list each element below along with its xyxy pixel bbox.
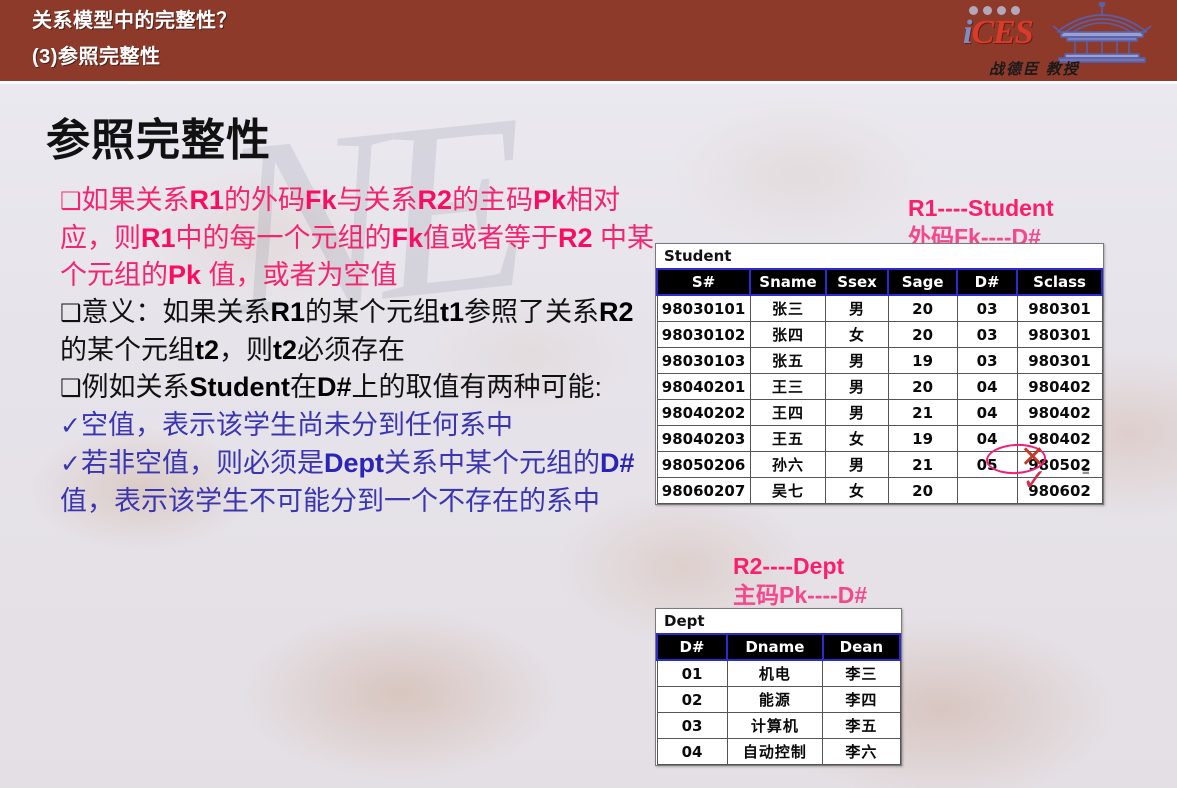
student-header-row: S# Sname Ssex Sage D# Sclass — [657, 269, 1102, 295]
table-row: 01 机电 李三 — [657, 660, 900, 687]
bullet-list: ❑如果关系R1的外码Fk与关系R2的主码Pk相对应，则R1中的每一个元组的Fk值… — [60, 182, 660, 520]
cell-sname: 王四 — [750, 400, 826, 426]
cell-dean: 李三 — [823, 660, 900, 687]
cell-ssex: 女 — [826, 322, 888, 348]
dept-label-line1: R2----Dept — [733, 552, 867, 581]
cell-sclass: 980402 — [1017, 426, 1102, 452]
col-header-d-number: D# — [957, 269, 1017, 295]
cell-sclass: 980301 — [1017, 322, 1102, 348]
table-row: 98030101 张三 男 20 03 980301 — [657, 295, 1102, 322]
cell-sname: 吴七 — [750, 478, 826, 504]
cell-s-number: 98060207 — [657, 478, 750, 504]
student-table: Student S# Sname Ssex Sage D# Sclass 980… — [655, 243, 1104, 505]
table-row: 98060207 吴七 女 20 980602 — [657, 478, 1102, 504]
page-subtitle: (3)参照完整性 — [32, 40, 160, 69]
cell-sclass: 980502 — [1017, 452, 1102, 478]
bullet-text-5: 若非空值，则必须是Dept关系中某个元组的D#值，表示该学生不可能分到一个不存在… — [60, 448, 634, 516]
cell-sname: 孙六 — [750, 452, 826, 478]
check-bullet-icon: ✓ — [60, 450, 81, 478]
cell-dname: 能源 — [727, 687, 823, 713]
bullet-text-1: 如果关系R1的外码Fk与关系R2的主码Pk相对应，则R1中的每一个元组的Fk值或… — [60, 185, 654, 290]
bullet-text-4: 空值，表示该学生尚未分到任何系中 — [81, 410, 513, 440]
cell-dean: 李五 — [823, 713, 900, 739]
table-row: 03 计算机 李五 — [657, 713, 900, 739]
square-bullet-icon: ❑ — [60, 375, 82, 402]
cell-sclass: 980402 — [1017, 400, 1102, 426]
cell-d-number: 04 — [657, 739, 727, 765]
dept-table-caption: Dept — [656, 609, 901, 633]
table-row: 04 自动控制 李六 — [657, 739, 900, 765]
ices-logo: iCES — [959, 0, 1169, 84]
cell-s-number: 98030103 — [657, 348, 750, 374]
bullet-text-3: 例如关系Student在D#上的取值有两种可能: — [82, 372, 603, 402]
cell-s-number: 98050206 — [657, 452, 750, 478]
cell-sname: 张四 — [750, 322, 826, 348]
cell-sclass: 980301 — [1017, 295, 1102, 322]
cell-dname: 自动控制 — [727, 739, 823, 765]
cell-sname: 张五 — [750, 348, 826, 374]
logo-wordmark: iCES — [963, 14, 1033, 52]
cell-sname: 王三 — [750, 374, 826, 400]
cell-d-number: 01 — [657, 660, 727, 687]
cell-s-number: 98040202 — [657, 400, 750, 426]
col-header-sage: Sage — [888, 269, 957, 295]
cell-sname: 王五 — [750, 426, 826, 452]
cell-sage: 21 — [888, 400, 957, 426]
table-row: 98040203 王五 女 19 04 980402 — [657, 426, 1102, 452]
cell-ssex: 男 — [826, 400, 888, 426]
table-row: 02 能源 李四 — [657, 687, 900, 713]
cell-ssex: 男 — [826, 348, 888, 374]
table-row: 98030103 张五 男 19 03 980301 — [657, 348, 1102, 374]
cell-sage: 21 — [888, 452, 957, 478]
cell-sclass: 980602 — [1017, 478, 1102, 504]
col-header-ssex: Ssex — [826, 269, 888, 295]
cell-d-number: 03 — [957, 348, 1017, 374]
bullet-item-3: ❑例如关系Student在D#上的取值有两种可能: — [60, 369, 660, 407]
cell-s-number: 98040203 — [657, 426, 750, 452]
cell-ssex: 女 — [826, 426, 888, 452]
bullet-item-2: ❑意义：如果关系R1的某个元组t1参照了关系R2的某个元组t2，则t2必须存在 — [60, 294, 660, 369]
square-bullet-icon: ❑ — [60, 188, 82, 215]
cell-d-number-null — [957, 478, 1017, 504]
cell-ssex: 女 — [826, 478, 888, 504]
cell-sclass: 980402 — [1017, 374, 1102, 400]
logo-byline: 战德臣 教授 — [989, 58, 1080, 79]
col-header-d-number: D# — [657, 634, 727, 660]
cell-dname: 机电 — [727, 660, 823, 687]
bullet-text-2: 意义：如果关系R1的某个元组t1参照了关系R2的某个元组t2，则t2必须存在 — [60, 297, 634, 365]
cell-sage: 20 — [888, 295, 957, 322]
cell-s-number: 98030102 — [657, 322, 750, 348]
cell-sage: 20 — [888, 478, 957, 504]
table-row: 98030102 张四 女 20 03 980301 — [657, 322, 1102, 348]
student-label-line1: R1----Student — [908, 194, 1054, 223]
cell-ssex: 男 — [826, 295, 888, 322]
student-table-grid: S# Sname Ssex Sage D# Sclass 98030101 张三… — [656, 268, 1103, 504]
col-header-sclass: Sclass — [1017, 269, 1102, 295]
cell-ssex: 男 — [826, 452, 888, 478]
col-header-sname: Sname — [750, 269, 826, 295]
cell-sname: 张三 — [750, 295, 826, 322]
col-header-dname: Dname — [727, 634, 823, 660]
bullet-item-5: ✓若非空值，则必须是Dept关系中某个元组的D#值，表示该学生不可能分到一个不存… — [60, 445, 660, 520]
table-row: 98040201 王三 男 20 04 980402 — [657, 374, 1102, 400]
cell-d-number: 03 — [957, 295, 1017, 322]
bullet-item-1: ❑如果关系R1的外码Fk与关系R2的主码Pk相对应，则R1中的每一个元组的Fk值… — [60, 182, 660, 294]
cell-dean: 李四 — [823, 687, 900, 713]
table-row: 98040202 王四 男 21 04 980402 — [657, 400, 1102, 426]
cell-d-number: 03 — [657, 713, 727, 739]
cell-sclass: 980301 — [1017, 348, 1102, 374]
square-bullet-icon: ❑ — [60, 300, 82, 327]
dept-table: Dept D# Dname Dean 01 机电 李三 02 能源 李四 03 … — [655, 608, 902, 766]
slide-title: 参照完整性 — [46, 104, 271, 168]
cell-s-number: 98030101 — [657, 295, 750, 322]
cell-sage: 20 — [888, 322, 957, 348]
student-table-caption: Student — [656, 244, 1103, 268]
cell-d-number-invalid: 05 — [957, 452, 1017, 478]
cell-d-number: 02 — [657, 687, 727, 713]
dept-table-label: R2----Dept 主码Pk----D# — [733, 552, 867, 610]
check-bullet-icon: ✓ — [60, 412, 81, 440]
col-header-dean: Dean — [823, 634, 900, 660]
bullet-item-4: ✓空值，表示该学生尚未分到任何系中 — [60, 407, 660, 445]
dept-table-grid: D# Dname Dean 01 机电 李三 02 能源 李四 03 计算机 李… — [656, 633, 901, 765]
cell-sage: 20 — [888, 374, 957, 400]
cell-s-number: 98040201 — [657, 374, 750, 400]
col-header-s-number: S# — [657, 269, 750, 295]
cell-dname: 计算机 — [727, 713, 823, 739]
dept-label-line2: 主码Pk----D# — [733, 581, 867, 610]
table-row: 98050206 孙六 男 21 05 980502 — [657, 452, 1102, 478]
cell-sage: 19 — [888, 426, 957, 452]
cell-ssex: 男 — [826, 374, 888, 400]
cell-d-number: 04 — [957, 374, 1017, 400]
dept-header-row: D# Dname Dean — [657, 634, 900, 660]
cell-dean: 李六 — [823, 739, 900, 765]
cell-sage: 19 — [888, 348, 957, 374]
page-title: 关系模型中的完整性？ — [32, 4, 237, 33]
slide-header: 关系模型中的完整性？ (3)参照完整性 iCES — [0, 0, 1177, 84]
cell-d-number: 04 — [957, 400, 1017, 426]
cell-d-number: 03 — [957, 322, 1017, 348]
cell-d-number: 04 — [957, 426, 1017, 452]
